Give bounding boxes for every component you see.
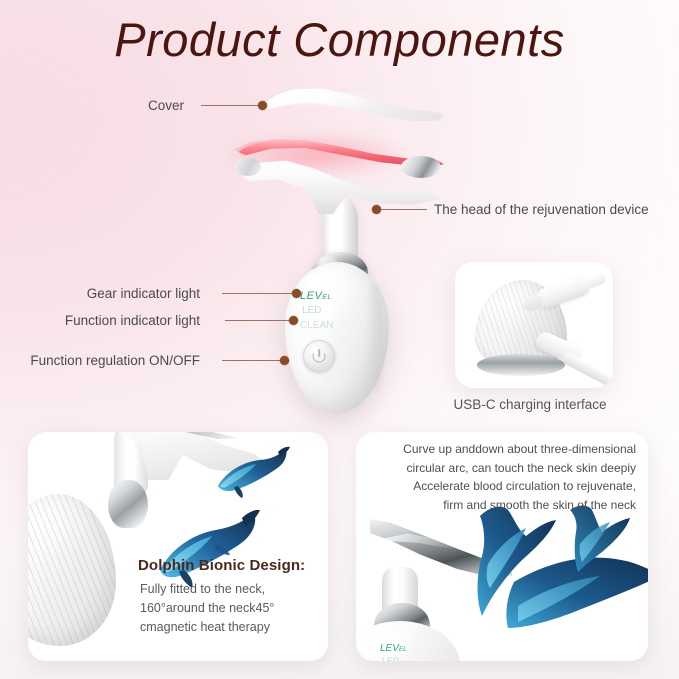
callout-label-gear: Gear indicator light (30, 286, 200, 301)
curve-motion-description: Curve up anddown about three-dimensional… (370, 440, 636, 514)
device-collar-side-graphic (108, 480, 148, 528)
curve-line-1: Curve up anddown about three-dimensional (370, 440, 636, 459)
device-dome-side-graphic (28, 494, 116, 646)
leader-line-onoff (222, 360, 282, 361)
whale-icon-large (158, 510, 274, 588)
leader-dot-head (372, 205, 381, 214)
device-led-indicator: LED (382, 656, 400, 661)
curve-line-4: firm and smooth the skin of the neck (370, 496, 636, 515)
dolphin-line-3: cmagnetic heat therapy (140, 618, 320, 637)
clean-indicator-label: CLEAN (300, 320, 333, 331)
curve-line-2: circular arc, can touch the neck skin de… (370, 459, 636, 478)
device-base-ring (477, 354, 565, 376)
dolphin-line-1: Fully fitted to the neck, (140, 580, 320, 599)
device-chrome-collar (312, 252, 368, 290)
dolphin-design-description: Fully fitted to the neck, 160°around the… (140, 580, 320, 637)
callout-label-onoff: Function regulation ON/OFF (0, 353, 200, 368)
device-head-graphic (233, 136, 445, 214)
callout-label-head: The head of the rejuvenation device (434, 202, 649, 217)
gear-indicator-light: LEVEL (300, 290, 332, 302)
leader-dot-onoff (280, 356, 289, 365)
leader-line-gear (222, 293, 294, 294)
device-level-indicator: LEVEL (380, 643, 407, 654)
leader-dot-function (289, 316, 298, 325)
device-cover-graphic (262, 86, 444, 128)
curve-line-3: Accelerate blood circulation to rejuvena… (370, 477, 636, 496)
page-title: Product Components (0, 12, 679, 67)
leader-line-head (381, 209, 427, 210)
leader-line-function (225, 320, 291, 321)
infographic-canvas: Product Components LEVEL LED CLEAN Cover (0, 0, 679, 679)
device-neck-graphic (322, 198, 358, 270)
charging-cable-icon (560, 351, 613, 388)
leader-dot-gear (292, 289, 301, 298)
usb-c-connector-icon (535, 274, 591, 311)
red-led-strip (233, 136, 445, 176)
whale-icon-small (216, 446, 296, 498)
usb-c-panel (455, 262, 613, 388)
led-indicator-label: LED (302, 305, 321, 316)
dolphin-line-2: 160°around the neck45° (140, 599, 320, 618)
callout-label-cover: Cover (148, 98, 184, 113)
usb-c-caption: USB-C charging interface (420, 397, 640, 412)
leader-line-cover (201, 105, 259, 106)
callout-label-function: Function indicator light (10, 313, 200, 328)
leader-dot-cover (258, 101, 267, 110)
power-button-icon[interactable] (303, 340, 335, 372)
dolphin-design-heading: Dolphin Bionic Design: (138, 557, 305, 574)
device-body-graphic (285, 262, 389, 414)
whale-tail-icon-group (474, 504, 648, 661)
